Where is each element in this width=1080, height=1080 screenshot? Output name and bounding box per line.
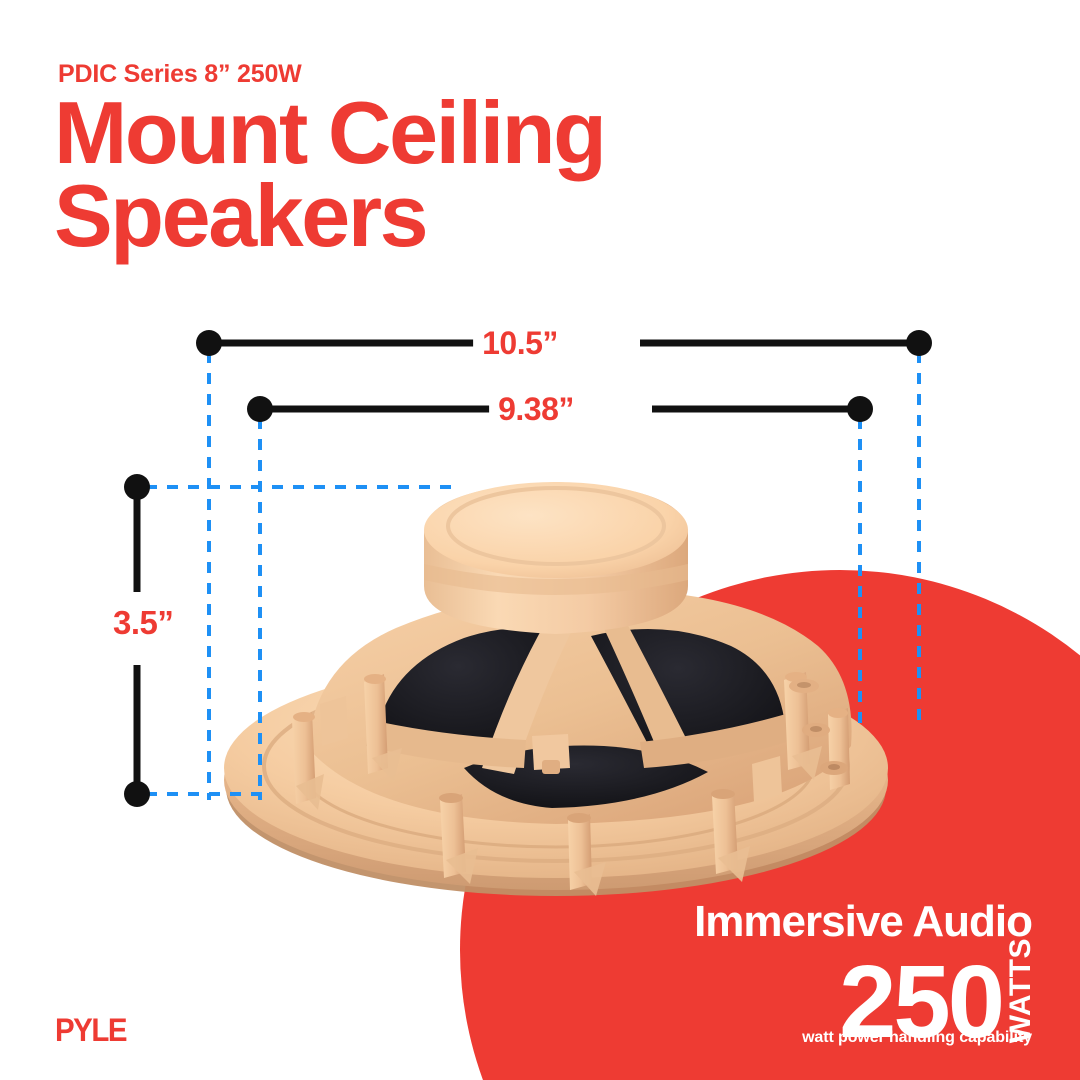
dimension-label-outer-width: 10.5” — [473, 325, 567, 362]
dim-endpoint-dot — [124, 781, 150, 807]
dim-endpoint-dot — [847, 396, 873, 422]
pyle-logo: PYLE — [55, 1012, 126, 1049]
dim-endpoint-dot — [196, 330, 222, 356]
badge-subtext: watt power handling capability — [802, 1029, 1032, 1047]
badge-wattage-unit: WATTS — [1006, 938, 1036, 1043]
dimension-label-cutout-width: 9.38” — [489, 391, 583, 428]
dim-endpoint-dot — [124, 474, 150, 500]
dim-endpoint-dot — [906, 330, 932, 356]
dimension-label-depth: 3.5” — [104, 604, 182, 642]
dim-endpoint-dot — [247, 396, 273, 422]
infographic-canvas: PDIC Series 8” 250W Mount Ceiling Speake… — [0, 0, 1080, 1080]
